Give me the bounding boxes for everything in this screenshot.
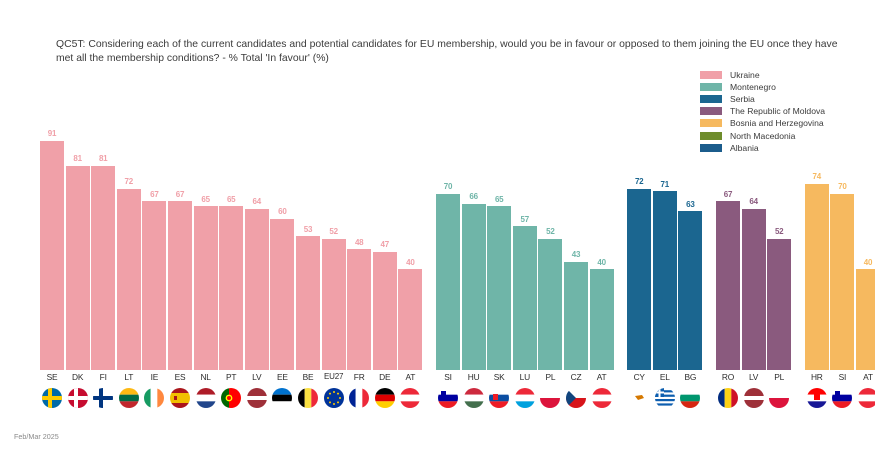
bar-column[interactable]: 65: [194, 195, 218, 370]
x-axis-tick-label: DK: [66, 372, 90, 382]
bar-column[interactable]: 91: [40, 129, 64, 370]
bar-column[interactable]: 71: [653, 180, 677, 370]
bar-rect[interactable]: [538, 239, 562, 370]
bar-rect[interactable]: [716, 201, 740, 370]
bar-column[interactable]: 65: [219, 195, 243, 370]
bar-column[interactable]: 74: [805, 172, 829, 370]
bar-rect[interactable]: [322, 239, 346, 370]
bar-value-label: 71: [661, 180, 670, 190]
x-axis-tick-label: AT: [398, 372, 422, 382]
bar-rect[interactable]: [168, 201, 192, 370]
bar-value-label: 64: [749, 197, 758, 207]
bar-rect[interactable]: [373, 252, 397, 370]
bar-column[interactable]: 53: [296, 225, 320, 370]
x-axis-tick-label: FI: [91, 372, 115, 382]
flag-icon: [655, 388, 675, 408]
x-axis-tick-label: FR: [347, 372, 371, 382]
flag-icon: [349, 388, 369, 408]
x-axis-tick-label: LT: [117, 372, 141, 382]
flag-icon: [858, 388, 875, 408]
bar-rect[interactable]: [767, 239, 791, 370]
flag-icon: [629, 388, 649, 408]
bar-value-label: 60: [278, 207, 287, 217]
chart-title: QC5T: Considering each of the current ca…: [56, 38, 846, 66]
bar-value-label: 74: [813, 172, 822, 182]
legend-swatch-icon: [700, 83, 722, 91]
flag-icon: [744, 388, 764, 408]
plot-area: 9181817267676565646053524847407066655752…: [40, 100, 850, 370]
flag-icon: [489, 388, 509, 408]
bar-rect[interactable]: [40, 141, 64, 370]
bar-column[interactable]: 67: [716, 190, 740, 370]
x-axis-tick-label: HU: [462, 372, 486, 382]
flag-icon: [93, 388, 113, 408]
x-axis-tick-label: NL: [194, 372, 218, 382]
bar-rect[interactable]: [66, 166, 90, 370]
bar-rect[interactable]: [805, 184, 829, 370]
flag-icon: [718, 388, 738, 408]
bar-value-label: 52: [546, 227, 555, 237]
flag-icon: [42, 388, 62, 408]
x-axis-tick-label: SE: [40, 372, 64, 382]
bar-rect[interactable]: [436, 194, 460, 370]
bar-rect[interactable]: [742, 209, 766, 370]
bar-value-label: 65: [495, 195, 504, 205]
bar-column[interactable]: 64: [742, 197, 766, 370]
flag-icon: [324, 388, 344, 408]
bar-rect[interactable]: [91, 166, 115, 370]
legend-item-label: Montenegro: [730, 82, 776, 92]
bar-rect[interactable]: [296, 236, 320, 370]
x-axis-tick-label: LV: [742, 372, 766, 382]
x-axis-tick-label: IE: [142, 372, 166, 382]
x-axis-tick-label: AT: [856, 372, 875, 382]
bar-column[interactable]: 40: [590, 258, 614, 370]
bar-column[interactable]: 81: [66, 154, 90, 370]
flag-icon: [400, 388, 420, 408]
bar-rect[interactable]: [590, 269, 614, 370]
bar-column[interactable]: 60: [270, 207, 294, 370]
bar-value-label: 70: [838, 182, 847, 192]
x-axis-tick-label: EL: [653, 372, 677, 382]
flag-icon: [464, 388, 484, 408]
bar-value-label: 72: [635, 177, 644, 187]
x-axis-tick-label: AT: [590, 372, 614, 382]
bar-value-label: 52: [775, 227, 784, 237]
x-axis-tick-label: SK: [487, 372, 511, 382]
flag-icon: [515, 388, 535, 408]
bar-rect[interactable]: [513, 226, 537, 370]
bar-value-label: 66: [469, 192, 478, 202]
bar-column[interactable]: 70: [436, 182, 460, 370]
bar-rect[interactable]: [462, 204, 486, 370]
bar-value-label: 67: [176, 190, 185, 200]
bar-column[interactable]: 72: [117, 177, 141, 370]
bar-rect[interactable]: [398, 269, 422, 370]
x-axis-tick-label: DE: [373, 372, 397, 382]
footer-date: Feb/Mar 2025: [14, 432, 59, 441]
bar-value-label: 40: [864, 258, 873, 268]
flag-icon: [540, 388, 560, 408]
flag-icon: [272, 388, 292, 408]
x-axis-tick-label: SI: [830, 372, 854, 382]
bar-column[interactable]: 64: [245, 197, 269, 370]
bar-value-label: 65: [227, 195, 236, 205]
bar-column[interactable]: 52: [538, 227, 562, 370]
bar-column[interactable]: 43: [564, 250, 588, 370]
x-axis-tick-label: SI: [436, 372, 460, 382]
x-axis-tick-label: LV: [245, 372, 269, 382]
x-axis-tick-label: EE: [270, 372, 294, 382]
bar-value-label: 63: [686, 200, 695, 210]
legend-item-label: Ukraine: [730, 70, 760, 80]
bar-value-label: 64: [253, 197, 262, 207]
bar-rect[interactable]: [653, 191, 677, 370]
x-axis-labels: SEDKFILTIEESNLPTLVEEBEEU27FRDEATSIHUSKLU…: [40, 372, 850, 386]
flag-icon: [807, 388, 827, 408]
flag-icon: [375, 388, 395, 408]
bar-rect[interactable]: [564, 262, 588, 370]
flag-icon: [170, 388, 190, 408]
flag-icon: [247, 388, 267, 408]
bar-value-label: 91: [48, 129, 57, 139]
bar-column[interactable]: 48: [347, 238, 371, 370]
x-axis-tick-label: HR: [805, 372, 829, 382]
legend-item[interactable]: Ukraine: [700, 69, 825, 81]
flag-icon: [68, 388, 88, 408]
x-axis-tick-label: RO: [716, 372, 740, 382]
x-axis-tick-label: EU27: [317, 372, 351, 381]
legend-item[interactable]: Montenegro: [700, 81, 825, 93]
bar-column[interactable]: 57: [513, 215, 537, 370]
x-axis-tick-label: CZ: [564, 372, 588, 382]
bar-column[interactable]: 63: [678, 200, 702, 370]
bar-rect[interactable]: [142, 201, 166, 370]
flag-icon-row: [40, 388, 850, 410]
x-axis-tick-label: LU: [513, 372, 537, 382]
bar-value-label: 72: [125, 177, 134, 187]
flag-icon: [221, 388, 241, 408]
bar-column[interactable]: 52: [767, 227, 791, 370]
bar-value-label: 48: [355, 238, 364, 248]
x-axis-tick-label: PL: [767, 372, 791, 382]
flag-icon: [119, 388, 139, 408]
bar-rect[interactable]: [830, 194, 854, 370]
flag-icon: [769, 388, 789, 408]
bar-value-label: 40: [597, 258, 606, 268]
x-axis-tick-label: BG: [678, 372, 702, 382]
x-axis-tick-label: PT: [219, 372, 243, 382]
bar-value-label: 67: [724, 190, 733, 200]
bar-column[interactable]: 40: [856, 258, 875, 370]
bar-value-label: 43: [572, 250, 581, 260]
flag-icon: [196, 388, 216, 408]
legend-swatch-icon: [700, 71, 722, 79]
bar-rect[interactable]: [117, 189, 141, 370]
chart-container: QC5T: Considering each of the current ca…: [0, 0, 875, 460]
flag-icon: [144, 388, 164, 408]
flag-icon: [298, 388, 318, 408]
bar-rect[interactable]: [270, 219, 294, 370]
bar-value-label: 81: [99, 154, 108, 164]
bar-rect[interactable]: [627, 189, 651, 370]
bar-column[interactable]: 72: [627, 177, 651, 370]
x-axis-tick-label: ES: [168, 372, 192, 382]
bar-column[interactable]: 52: [322, 227, 346, 370]
flag-icon: [438, 388, 458, 408]
flag-icon: [832, 388, 852, 408]
bar-column[interactable]: 47: [373, 240, 397, 370]
x-axis-tick-label: CY: [627, 372, 651, 382]
flag-icon: [566, 388, 586, 408]
bar-column[interactable]: 65: [487, 195, 511, 370]
bar-value-label: 81: [73, 154, 82, 164]
bar-rect[interactable]: [856, 269, 875, 370]
bar-column[interactable]: 40: [398, 258, 422, 370]
bar-rect[interactable]: [487, 206, 511, 370]
bar-rect[interactable]: [219, 206, 243, 370]
bar-value-label: 40: [406, 258, 415, 268]
bar-column[interactable]: 67: [168, 190, 192, 370]
flag-icon: [592, 388, 612, 408]
bar-column[interactable]: 67: [142, 190, 166, 370]
bar-value-label: 52: [329, 227, 338, 237]
bar-column[interactable]: 66: [462, 192, 486, 370]
bar-column[interactable]: 81: [91, 154, 115, 370]
bar-rect[interactable]: [194, 206, 218, 370]
bar-rect[interactable]: [678, 211, 702, 370]
bar-value-label: 65: [201, 195, 210, 205]
bar-rect[interactable]: [245, 209, 269, 370]
bar-value-label: 70: [444, 182, 453, 192]
flag-icon: [680, 388, 700, 408]
bar-value-label: 47: [381, 240, 390, 250]
x-axis-tick-label: PL: [538, 372, 562, 382]
bar-rect[interactable]: [347, 249, 371, 370]
bar-value-label: 67: [150, 190, 159, 200]
bar-value-label: 57: [521, 215, 530, 225]
bar-value-label: 53: [304, 225, 313, 235]
bar-column[interactable]: 70: [830, 182, 854, 370]
